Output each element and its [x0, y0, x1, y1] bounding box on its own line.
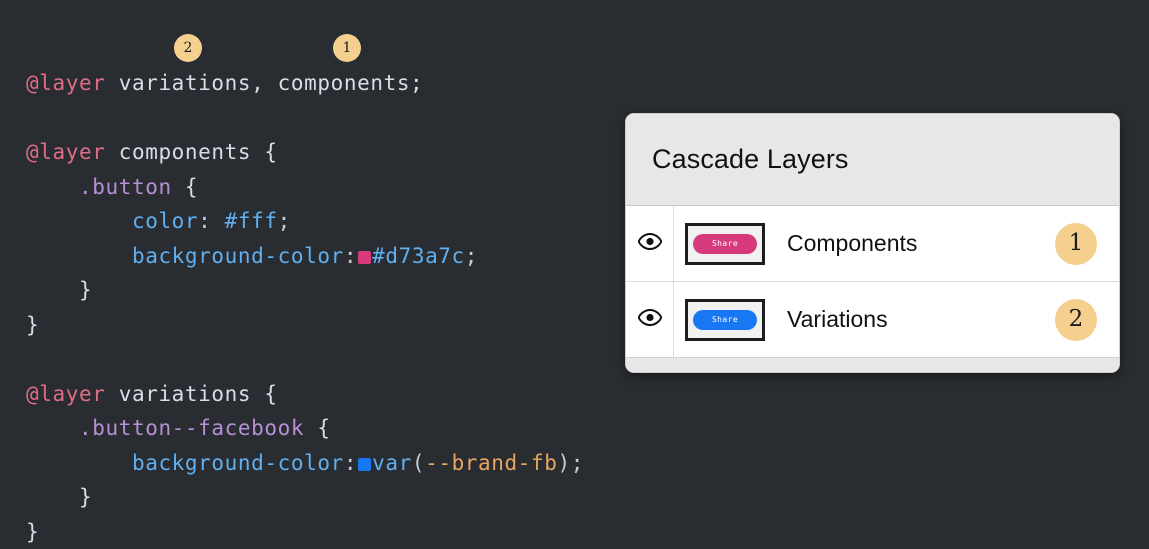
code-token — [26, 244, 132, 268]
layer-preview-thumbnail: Share — [685, 223, 765, 265]
code-line: .button--facebook { — [26, 411, 584, 446]
code-token: ; — [465, 244, 478, 268]
layer-order-badge: 1 — [1055, 223, 1097, 265]
code-line — [26, 342, 584, 377]
code-token: @layer — [26, 382, 105, 406]
layers-list: Share Components 1 Share — [626, 206, 1119, 357]
code-token: ) — [558, 451, 571, 475]
code-line: color: #fff; — [26, 204, 584, 239]
code-token: } — [26, 313, 39, 337]
code-token: #d73a7c — [372, 244, 465, 268]
code-annotation-badge-components: 1 — [333, 34, 361, 62]
code-line — [26, 101, 584, 136]
code-token: } — [26, 278, 92, 302]
code-token: var — [372, 451, 412, 475]
code-annotation-badge-variations: 2 — [174, 34, 202, 62]
code-token: components { — [105, 140, 277, 164]
code-token: ; — [571, 451, 584, 475]
panel-header: Cascade Layers — [626, 114, 1119, 206]
eye-icon[interactable] — [638, 309, 662, 331]
layer-preview-thumbnail: Share — [685, 299, 765, 341]
layer-main-cell: Share Components — [674, 206, 1033, 281]
code-token — [26, 209, 132, 233]
panel-footer — [626, 357, 1119, 372]
layer-name: Components — [787, 230, 917, 257]
code-token — [26, 451, 132, 475]
layer-name: Variations — [787, 306, 888, 333]
layer-order-cell: 2 — [1033, 282, 1119, 357]
code-token: background-color — [132, 244, 344, 268]
code-token: { — [304, 416, 331, 440]
code-line: @layer variations, components; — [26, 66, 584, 101]
layer-order-badge: 2 — [1055, 299, 1097, 341]
code-token: .button--facebook — [79, 416, 304, 440]
code-token: ( — [412, 451, 425, 475]
color-swatch — [358, 458, 371, 471]
code-line: } — [26, 273, 584, 308]
panel-title: Cascade Layers — [652, 144, 849, 175]
preview-share-button: Share — [693, 234, 757, 254]
layer-order-cell: 1 — [1033, 206, 1119, 281]
layer-row[interactable]: Share Components 1 — [626, 206, 1119, 282]
code-token: variations, components; — [105, 71, 423, 95]
code-line: .button { — [26, 170, 584, 205]
code-token: .button — [79, 175, 172, 199]
code-token: : — [344, 244, 357, 268]
color-swatch — [358, 251, 371, 264]
code-token: : — [198, 209, 225, 233]
code-token: --brand-fb — [425, 451, 557, 475]
code-line: background-color:var(--brand-fb); — [26, 446, 584, 481]
code-line: @layer components { — [26, 135, 584, 170]
layer-row[interactable]: Share Variations 2 — [626, 282, 1119, 357]
visibility-toggle-cell[interactable] — [626, 282, 674, 357]
code-token: } — [26, 520, 39, 544]
code-line: } — [26, 515, 584, 549]
code-token: color — [132, 209, 198, 233]
code-token: { — [172, 175, 199, 199]
cascade-layers-panel: Cascade Layers Share Components 1 — [625, 113, 1120, 373]
code-token: ; — [278, 209, 291, 233]
code-token: : — [344, 451, 357, 475]
code-token: variations { — [105, 382, 277, 406]
code-block: @layer variations, components; @layer co… — [26, 66, 584, 549]
code-token: background-color — [132, 451, 344, 475]
code-line: background-color:#d73a7c; — [26, 239, 584, 274]
eye-icon[interactable] — [638, 233, 662, 255]
code-token: @layer — [26, 71, 105, 95]
code-editor: @layer variations, components; @layer co… — [0, 0, 640, 531]
code-token — [26, 416, 79, 440]
code-token: #fff — [225, 209, 278, 233]
preview-share-button: Share — [693, 310, 757, 330]
code-token — [26, 175, 79, 199]
layer-main-cell: Share Variations — [674, 282, 1033, 357]
code-line: } — [26, 308, 584, 343]
code-token: } — [26, 485, 92, 509]
code-line: @layer variations { — [26, 377, 584, 412]
code-token: @layer — [26, 140, 105, 164]
visibility-toggle-cell[interactable] — [626, 206, 674, 281]
code-line: } — [26, 480, 584, 515]
